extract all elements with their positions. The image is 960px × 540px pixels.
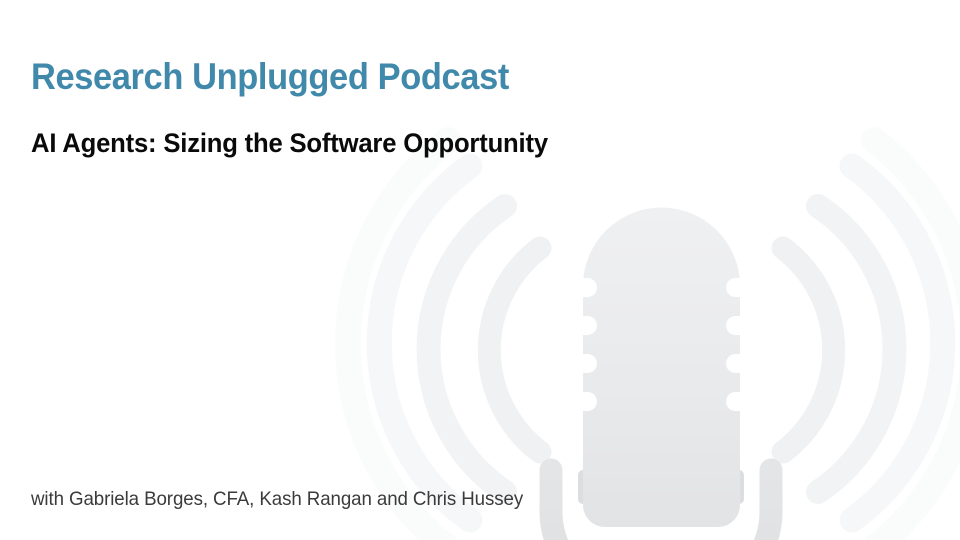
episode-title: AI Agents: Sizing the Software Opportuni… <box>31 126 548 160</box>
slide-text-layer: Research Unplugged Podcast AI Agents: Si… <box>0 0 960 540</box>
episode-credits: with Gabriela Borges, CFA, Kash Rangan a… <box>31 486 523 512</box>
podcast-title-slide: Research Unplugged Podcast AI Agents: Si… <box>0 0 960 540</box>
page-title: Research Unplugged Podcast <box>31 55 509 99</box>
